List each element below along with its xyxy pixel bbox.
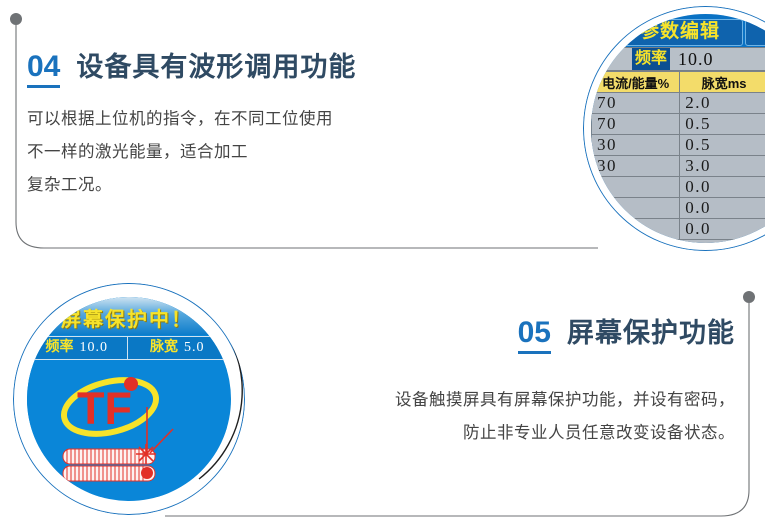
hmi-window-title: 参数编辑: [617, 19, 743, 46]
status-frequency-value: 10.0: [80, 337, 109, 359]
cell-pulsewidth[interactable]: 0.0: [680, 177, 765, 198]
table-row: 00.0: [592, 177, 765, 198]
section-05-title: 屏幕保护功能: [567, 320, 735, 347]
section-04-paragraph-line-2: 不一样的激光能量，适合加工: [27, 136, 356, 169]
section-04-paragraph-line-1: 可以根据上位机的指令，在不同工位使用: [27, 103, 356, 136]
table-header-row: 电流/能量% 脉宽ms: [592, 72, 765, 93]
status-pulsewidth-value: 5.0: [184, 337, 205, 359]
cell-pulsewidth[interactable]: 0.5: [680, 135, 765, 156]
table-header-pulsewidth: 脉宽ms: [680, 72, 765, 93]
cell-pulsewidth[interactable]: 0.5: [680, 114, 765, 135]
table-row: 0.0: [592, 219, 765, 240]
spark-icon: [136, 444, 156, 464]
table-row: 700.5: [592, 114, 765, 135]
table-row: 00.0: [592, 198, 765, 219]
table-row: 300.5: [592, 135, 765, 156]
cell-pulsewidth[interactable]: 0.0: [680, 240, 765, 244]
section-04-heading: 04 设备具有波形调用功能: [27, 52, 356, 88]
cell-current[interactable]: 70: [592, 93, 680, 114]
status-frequency-label: 频率: [46, 337, 74, 359]
section-05: 05 屏幕保护功能 设备触摸屏具有屏幕保护功能，并设有密码， 防止非专业人员任意…: [305, 318, 735, 450]
cell-current[interactable]: 30: [592, 156, 680, 177]
table-row: 0.0: [592, 240, 765, 244]
section-05-heading: 05 屏幕保护功能: [305, 318, 735, 354]
table-body: 702.0 700.5 300.5 303.0 00.0 00.0 0.0 0.…: [592, 93, 765, 244]
status-item-pulsewidth: 脉宽 5.0: [128, 337, 228, 359]
cell-current[interactable]: 70: [592, 114, 680, 135]
cell-current[interactable]: 0: [592, 198, 680, 219]
cell-current[interactable]: 0: [592, 177, 680, 198]
cell-current[interactable]: 30: [592, 135, 680, 156]
section-04-paragraph-line-3: 复杂工况。: [27, 169, 356, 202]
parameter-editor-screenshot: 参数编辑 频率 10.0 电流/能量% 脉宽ms 702.0 700.5: [583, 6, 765, 251]
hmi-parameter-table[interactable]: 电流/能量% 脉宽ms 702.0 700.5 300.5 303.0 00.0…: [591, 71, 765, 243]
cell-pulsewidth[interactable]: 0.0: [680, 198, 765, 219]
section-04-paragraph: 可以根据上位机的指令，在不同工位使用 不一样的激光能量，适合加工 复杂工况。: [27, 103, 356, 202]
hmi-frequency-value[interactable]: 10.0: [678, 49, 714, 70]
section-04-number: 04: [27, 52, 60, 88]
logo-text: TF: [77, 383, 132, 434]
cell-pulsewidth[interactable]: 0.0: [680, 219, 765, 240]
hmi-frequency-spacer: [592, 48, 632, 70]
section-05-paragraph: 设备触摸屏具有屏幕保护功能，并设有密码， 防止非专业人员任意改变设备状态。: [305, 384, 735, 450]
screen-saver-status-bar: 频率 10.0 脉宽 5.0: [27, 336, 227, 360]
cell-pulsewidth[interactable]: 2.0: [680, 93, 765, 114]
cell-current[interactable]: [592, 240, 680, 244]
hmi-title-extra-button[interactable]: [745, 19, 765, 46]
hmi-frequency-row: 频率 10.0: [591, 47, 765, 71]
bracket-dot-top-left: [10, 13, 22, 25]
table-header-current: 电流/能量%: [592, 72, 680, 93]
section-05-paragraph-line-2: 防止非专业人员任意改变设备状态。: [305, 417, 735, 450]
table-row: 702.0: [592, 93, 765, 114]
section-05-paragraph-line-1: 设备触摸屏具有屏幕保护功能，并设有密码，: [305, 384, 735, 417]
hmi-parameter-editor: 参数编辑 频率 10.0 电流/能量% 脉宽ms 702.0 700.5: [591, 14, 765, 243]
status-item-frequency: 频率 10.0: [27, 337, 128, 359]
status-pulsewidth-label: 脉宽: [150, 337, 178, 359]
section-04: 04 设备具有波形调用功能 可以根据上位机的指令，在不同工位使用 不一样的激光能…: [27, 52, 356, 202]
table-row: 303.0: [592, 156, 765, 177]
bracket-dot-bottom-right: [743, 291, 755, 303]
screen-saver-screenshot: 屏幕保护中！ 频率 10.0 脉宽 5.0 TF: [13, 283, 245, 515]
hmi-frequency-label: 频率: [632, 48, 670, 70]
screen-saver-message: 屏幕保护中！: [27, 303, 227, 332]
section-05-number: 05: [518, 318, 551, 354]
cell-pulsewidth[interactable]: 3.0: [680, 156, 765, 177]
section-04-title: 设备具有波形调用功能: [76, 54, 356, 81]
screen-saver-logo-animation: TF: [55, 367, 185, 497]
cell-current[interactable]: [592, 219, 680, 240]
hmi-screen-saver: 屏幕保护中！ 频率 10.0 脉宽 5.0 TF: [27, 297, 227, 497]
